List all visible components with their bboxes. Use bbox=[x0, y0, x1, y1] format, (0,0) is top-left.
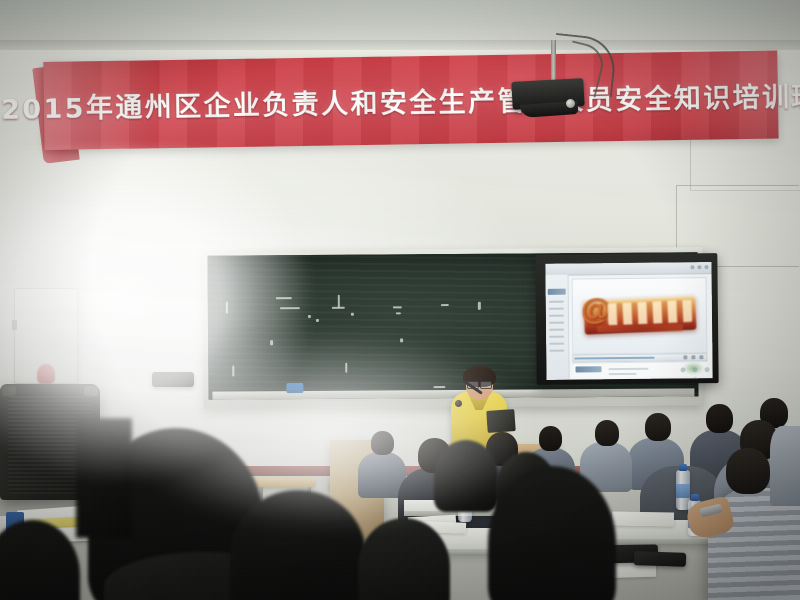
content-bullet-icon bbox=[705, 367, 710, 372]
video-player[interactable] bbox=[572, 277, 708, 354]
bottle-label bbox=[676, 484, 690, 498]
handout-paper[interactable] bbox=[612, 511, 674, 526]
audience-partial-right bbox=[770, 426, 800, 506]
chalk-mark bbox=[441, 304, 449, 306]
camera-flare-center bbox=[120, 330, 540, 530]
content-text-line bbox=[609, 373, 637, 375]
settings-icon[interactable] bbox=[683, 355, 687, 359]
browser-sidebar bbox=[546, 275, 570, 380]
browser-title-bar bbox=[545, 262, 711, 276]
event-banner: 2015年通州区企业负责人和安全生产管理人员安全知识培训班 bbox=[43, 50, 778, 150]
banner-text: 2015年通州区企业负责人和安全生产管理人员安全知识培训班 bbox=[43, 50, 778, 150]
projection-screen-frame bbox=[535, 253, 718, 385]
chalk-mark bbox=[396, 312, 401, 314]
audience-head bbox=[706, 404, 733, 433]
photo-scene: 2015年通州区企业负责人和安全生产管理人员安全知识培训班 bbox=[0, 0, 800, 600]
sidebar-item[interactable] bbox=[549, 301, 564, 303]
bottle-cap bbox=[679, 464, 687, 471]
minimize-icon[interactable] bbox=[690, 265, 694, 269]
sidebar-header-badge bbox=[548, 289, 566, 295]
content-text-line bbox=[576, 379, 628, 380]
audience-head bbox=[645, 413, 671, 441]
sidebar-item[interactable] bbox=[549, 308, 564, 310]
projector-lens-icon bbox=[566, 99, 575, 108]
sidebar-item[interactable] bbox=[549, 350, 564, 352]
video-subtitle-graphic bbox=[597, 324, 683, 332]
sidebar-item[interactable] bbox=[549, 336, 564, 338]
chalk-mark bbox=[478, 302, 481, 310]
content-bullet-icon bbox=[693, 377, 698, 380]
maximize-icon[interactable] bbox=[697, 265, 701, 269]
fullscreen-icon[interactable] bbox=[699, 355, 703, 359]
content-tag-badge[interactable] bbox=[575, 366, 601, 372]
projection-screen-surface bbox=[545, 262, 712, 380]
screen-green-glow bbox=[683, 362, 703, 374]
chalk-mark bbox=[332, 307, 345, 309]
audience-head bbox=[726, 448, 770, 494]
content-text-line bbox=[635, 379, 669, 380]
sidebar-item[interactable] bbox=[549, 322, 564, 324]
video-progress-bar[interactable] bbox=[574, 357, 654, 360]
page-content-below-video bbox=[572, 361, 707, 377]
content-text-line bbox=[609, 368, 649, 370]
audience-head bbox=[595, 420, 619, 446]
sidebar-item[interactable] bbox=[549, 315, 564, 317]
sidebar-item[interactable] bbox=[549, 343, 564, 345]
chalk-mark bbox=[351, 313, 354, 316]
close-icon[interactable] bbox=[704, 265, 708, 269]
chalk-mark bbox=[316, 319, 319, 322]
bottle-cap bbox=[691, 494, 699, 501]
volume-icon[interactable] bbox=[691, 355, 695, 359]
chalk-mark bbox=[338, 295, 340, 308]
sidebar-item[interactable] bbox=[549, 329, 564, 331]
audience-head bbox=[539, 426, 562, 451]
chalk-mark bbox=[393, 306, 402, 308]
phone-case[interactable] bbox=[634, 551, 686, 567]
